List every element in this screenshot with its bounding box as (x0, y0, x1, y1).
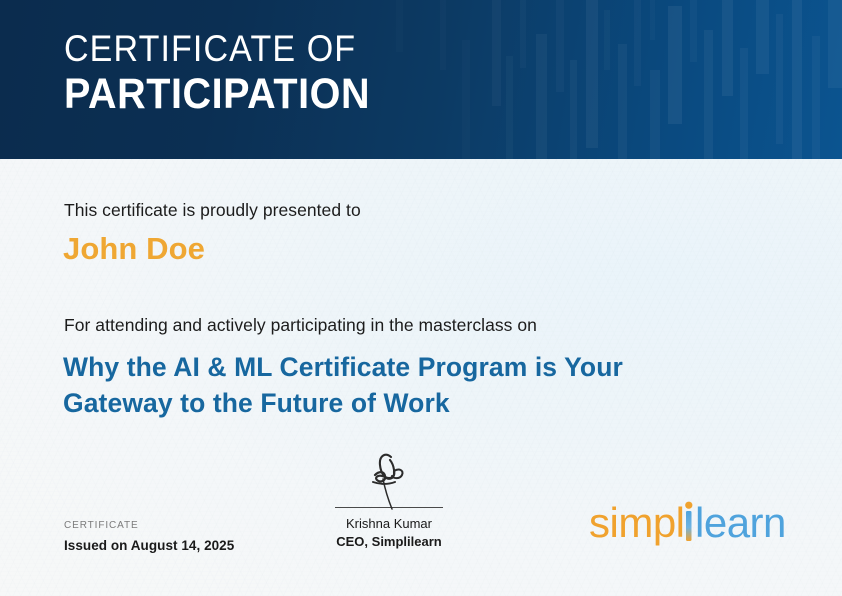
handwritten-signature-icon (335, 449, 443, 507)
signer-name: Krishna Kumar (335, 517, 443, 532)
svg-text:simpl: simpl (589, 499, 685, 546)
signer-role: CEO, Simplilearn (335, 535, 443, 550)
svg-text:learn: learn (695, 499, 786, 546)
attending-label: For attending and actively participating… (64, 315, 537, 336)
certificate-title-line-2: PARTICIPATION (64, 73, 370, 116)
simplilearn-logo: simpl learn (589, 499, 789, 551)
certificate-title-block: CERTIFICATE OF PARTICIPATION (64, 30, 397, 116)
certificate-document: CERTIFICATE OF PARTICIPATION This certif… (0, 0, 842, 596)
certificate-body: This certificate is proudly presented to… (0, 159, 842, 596)
presented-to-label: This certificate is proudly presented to (64, 200, 361, 221)
certificate-header: CERTIFICATE OF PARTICIPATION (0, 0, 842, 159)
certificate-caption: CERTIFICATE (64, 521, 234, 531)
recipient-name: John Doe (63, 231, 205, 267)
issue-date-value: Issued on August 14, 2025 (64, 539, 234, 553)
certificate-title-line-1: CERTIFICATE OF (64, 30, 370, 67)
issue-date-block: CERTIFICATE Issued on August 14, 2025 (64, 521, 234, 553)
course-title: Why the AI & ML Certificate Program is Y… (63, 349, 643, 421)
signature-block: Krishna Kumar CEO, Simplilearn (335, 449, 443, 550)
